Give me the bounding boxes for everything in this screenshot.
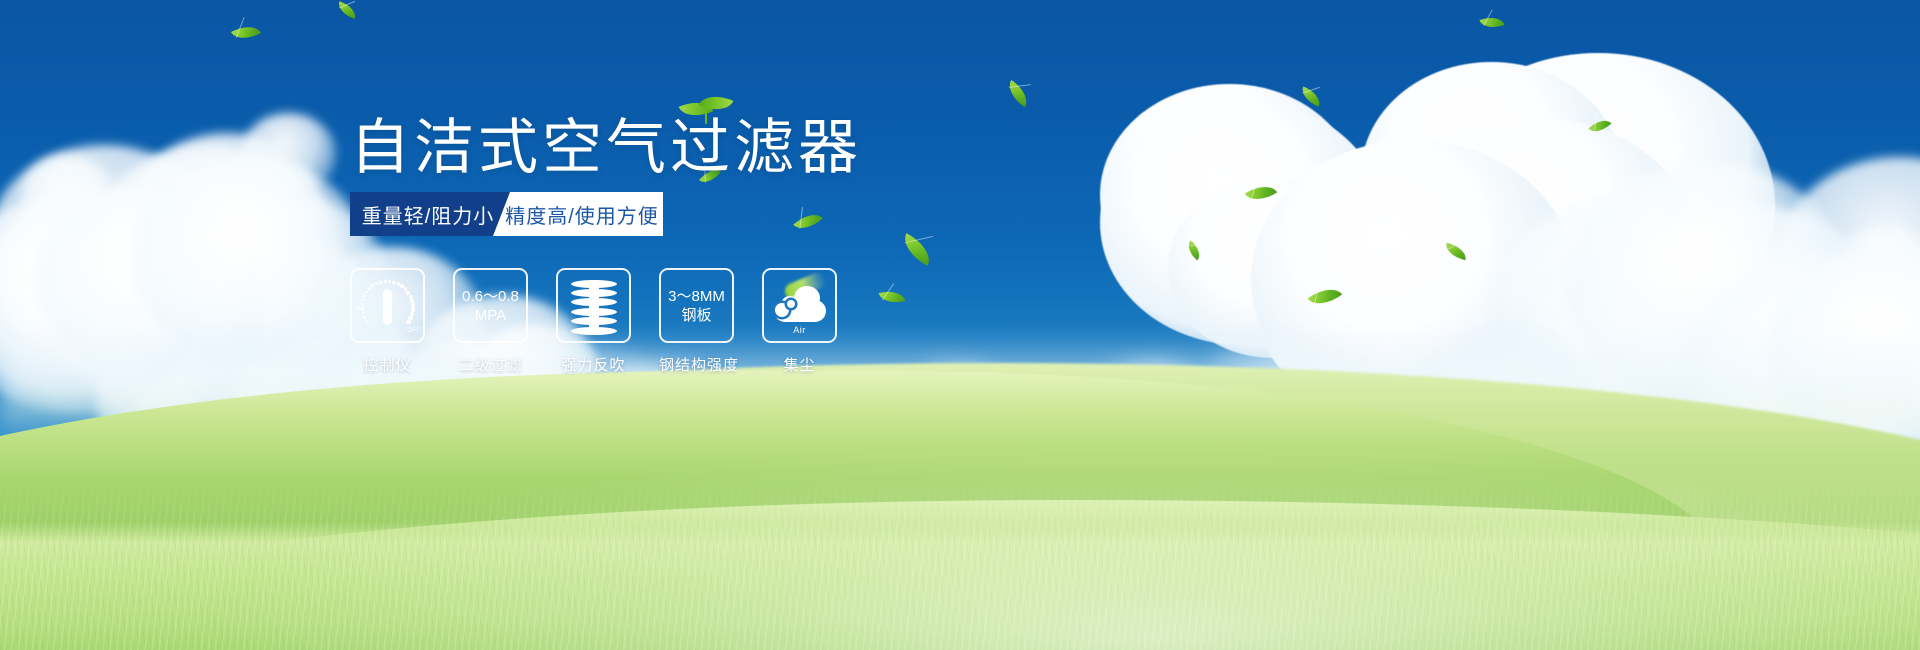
feature-row: NO OFF 控制仪0.6～0.8MPA二级过滤 强力反吹3～8MM钢板钢结构强…: [350, 268, 837, 375]
feature-label: 强力反吹: [556, 354, 631, 375]
feature-icon-text-line1: 3～8MM: [668, 287, 725, 306]
feature-label: 二级过滤: [453, 354, 528, 375]
feature-icon-box: NO OFF: [350, 268, 425, 343]
feature-item-4: Air 集尘: [762, 268, 837, 375]
feature-icon-text-line1: 0.6～0.8: [462, 287, 519, 306]
tagline-bar: 重量轻/阻力小 精度高/使用方便: [350, 192, 663, 236]
feature-label: 钢结构强度: [659, 354, 734, 375]
feature-item-0: NO OFF 控制仪: [350, 268, 425, 375]
air-cloud-icon: Air: [770, 280, 830, 332]
gauge-max-label: OFF: [407, 328, 420, 334]
feature-icon-box: Air: [762, 268, 837, 343]
feature-icon-box: [556, 268, 631, 343]
feature-label: 控制仪: [350, 354, 425, 375]
gauge-needle-icon: [383, 289, 392, 325]
feature-icon-text-line2: MPA: [462, 306, 519, 325]
tagline-primary: 重量轻/阻力小: [350, 192, 510, 236]
banner-content: 自洁式空气过滤器 重量轻/阻力小 精度高/使用方便 NO OFF 控制仪0.6～…: [0, 0, 1920, 650]
feature-icon-box: 3～8MM钢板: [659, 268, 734, 343]
gauge-min-label: NO: [356, 307, 366, 313]
feature-icon-box: 0.6～0.8MPA: [453, 268, 528, 343]
feature-icon-text: 3～8MM钢板: [668, 287, 725, 325]
tagline-secondary: 精度高/使用方便: [493, 192, 663, 236]
feature-icon-text: 0.6～0.8MPA: [462, 287, 519, 325]
banner-stage: 自洁式空气过滤器 重量轻/阻力小 精度高/使用方便 NO OFF 控制仪0.6～…: [0, 0, 1920, 650]
feature-item-1: 0.6～0.8MPA二级过滤: [453, 268, 528, 375]
feature-item-2: 强力反吹: [556, 268, 631, 375]
coil-blowback-icon: [571, 278, 617, 334]
air-label: Air: [770, 325, 830, 335]
dust-particle-small: [787, 300, 795, 308]
feature-label: 集尘: [762, 354, 837, 375]
feature-icon-text-line2: 钢板: [668, 306, 725, 325]
feature-item-3: 3～8MM钢板钢结构强度: [659, 268, 734, 375]
banner-title: 自洁式空气过滤器: [350, 116, 862, 180]
gauge-dial-icon: NO OFF: [357, 277, 419, 335]
